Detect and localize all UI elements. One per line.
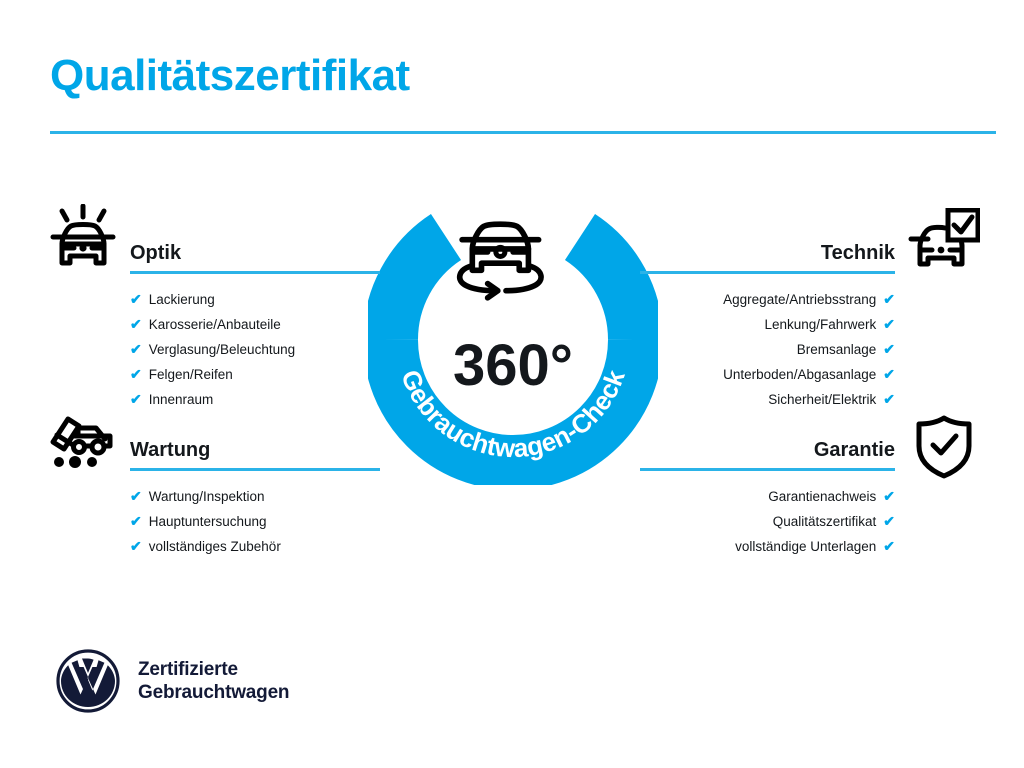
section-garantie-list: Garantienachweis✔ Qualitätszertifikat✔ v… bbox=[640, 484, 895, 559]
list-item-label: Qualitätszertifikat bbox=[773, 510, 877, 534]
check-icon: ✔ bbox=[130, 337, 142, 361]
check-icon: ✔ bbox=[883, 509, 895, 533]
section-optik-list: ✔Lackierung ✔Karosserie/Anbauteile ✔Verg… bbox=[130, 287, 380, 412]
list-item-label: Garantienachweis bbox=[768, 485, 876, 509]
list-item: Aggregate/Antriebsstrang✔ bbox=[640, 287, 895, 312]
check-icon: ✔ bbox=[883, 484, 895, 508]
list-item-label: Bremsanlage bbox=[797, 338, 877, 362]
car-front-shine-icon bbox=[48, 204, 118, 275]
list-item-label: Sicherheit/Elektrik bbox=[768, 388, 876, 412]
check-icon: ✔ bbox=[883, 312, 895, 336]
list-item-label: Wartung/Inspektion bbox=[149, 485, 265, 509]
pen-car-service-icon bbox=[48, 414, 118, 475]
list-item: ✔Verglasung/Beleuchtung bbox=[130, 337, 380, 362]
car-checkbox-icon bbox=[908, 208, 980, 275]
section-technik: Technik Aggregate/Antriebsstrang✔ Lenkun… bbox=[640, 240, 895, 412]
list-item-label: Verglasung/Beleuchtung bbox=[149, 338, 295, 362]
vw-wordmark-line1: Zertifizierte bbox=[138, 658, 289, 681]
check-icon: ✔ bbox=[130, 509, 142, 533]
title-divider bbox=[50, 131, 996, 134]
certificate-page: Qualitätszertifikat bbox=[0, 0, 1024, 768]
list-item: Sicherheit/Elektrik✔ bbox=[640, 387, 895, 412]
list-item-label: Karosserie/Anbauteile bbox=[149, 313, 281, 337]
list-item: Qualitätszertifikat✔ bbox=[640, 509, 895, 534]
section-wartung-header: Wartung bbox=[130, 437, 380, 471]
list-item: Lenkung/Fahrwerk✔ bbox=[640, 312, 895, 337]
vw-wordmark-line2: Gebrauchtwagen bbox=[138, 681, 289, 704]
list-item-label: vollständiges Zubehör bbox=[149, 535, 281, 559]
list-item-label: vollständige Unterlagen bbox=[735, 535, 876, 559]
check-icon: ✔ bbox=[883, 534, 895, 558]
list-item-label: Hauptuntersuchung bbox=[149, 510, 267, 534]
list-item: ✔Lackierung bbox=[130, 287, 380, 312]
vw-wordmark: Zertifizierte Gebrauchtwagen bbox=[138, 658, 289, 704]
section-garantie-divider bbox=[640, 468, 895, 471]
list-item: ✔Felgen/Reifen bbox=[130, 362, 380, 387]
360-check-badge: Gebrauchtwagen-Check 360° bbox=[368, 195, 658, 485]
check-icon: ✔ bbox=[883, 337, 895, 361]
list-item-label: Innenraum bbox=[149, 388, 214, 412]
list-item: ✔vollständiges Zubehör bbox=[130, 534, 380, 559]
vw-roundel-icon bbox=[55, 648, 121, 714]
badge-center-label: 360° bbox=[453, 333, 573, 398]
page-title: Qualitätszertifikat bbox=[50, 52, 410, 100]
list-item: Unterboden/Abgasanlage✔ bbox=[640, 362, 895, 387]
section-wartung-list: ✔Wartung/Inspektion ✔Hauptuntersuchung ✔… bbox=[130, 484, 380, 559]
section-garantie: Garantie Garantienachweis✔ Qualitätszert… bbox=[640, 437, 895, 559]
check-icon: ✔ bbox=[130, 287, 142, 311]
section-garantie-header: Garantie bbox=[640, 437, 895, 471]
check-icon: ✔ bbox=[883, 287, 895, 311]
section-optik: Optik ✔Lackierung ✔Karosserie/Anbauteile… bbox=[130, 240, 380, 412]
check-icon: ✔ bbox=[130, 484, 142, 508]
vw-footer-logo: Zertifizierte Gebrauchtwagen bbox=[55, 648, 289, 714]
section-technik-header: Technik bbox=[640, 240, 895, 274]
check-icon: ✔ bbox=[130, 312, 142, 336]
list-item: Garantienachweis✔ bbox=[640, 484, 895, 509]
section-technik-title: Technik bbox=[640, 240, 895, 266]
list-item: vollständige Unterlagen✔ bbox=[640, 534, 895, 559]
section-wartung-title: Wartung bbox=[130, 437, 380, 463]
section-wartung: Wartung ✔Wartung/Inspektion ✔Hauptunters… bbox=[130, 437, 380, 559]
section-technik-divider bbox=[640, 271, 895, 274]
check-icon: ✔ bbox=[130, 362, 142, 386]
section-optik-header: Optik bbox=[130, 240, 380, 274]
shield-check-icon bbox=[912, 414, 976, 485]
list-item-label: Unterboden/Abgasanlage bbox=[723, 363, 876, 387]
check-icon: ✔ bbox=[130, 534, 142, 558]
check-icon: ✔ bbox=[130, 387, 142, 411]
list-item: ✔Wartung/Inspektion bbox=[130, 484, 380, 509]
list-item: Bremsanlage✔ bbox=[640, 337, 895, 362]
list-item: ✔Karosserie/Anbauteile bbox=[130, 312, 380, 337]
list-item-label: Lenkung/Fahrwerk bbox=[764, 313, 876, 337]
section-wartung-divider bbox=[130, 468, 380, 471]
section-optik-title: Optik bbox=[130, 240, 380, 266]
list-item-label: Felgen/Reifen bbox=[149, 363, 233, 387]
section-technik-list: Aggregate/Antriebsstrang✔ Lenkung/Fahrwe… bbox=[640, 287, 895, 412]
list-item: ✔Innenraum bbox=[130, 387, 380, 412]
list-item-label: Lackierung bbox=[149, 288, 215, 312]
list-item-label: Aggregate/Antriebsstrang bbox=[723, 288, 876, 312]
list-item: ✔Hauptuntersuchung bbox=[130, 509, 380, 534]
check-icon: ✔ bbox=[883, 362, 895, 386]
check-icon: ✔ bbox=[883, 387, 895, 411]
section-garantie-title: Garantie bbox=[640, 437, 895, 463]
section-optik-divider bbox=[130, 271, 380, 274]
